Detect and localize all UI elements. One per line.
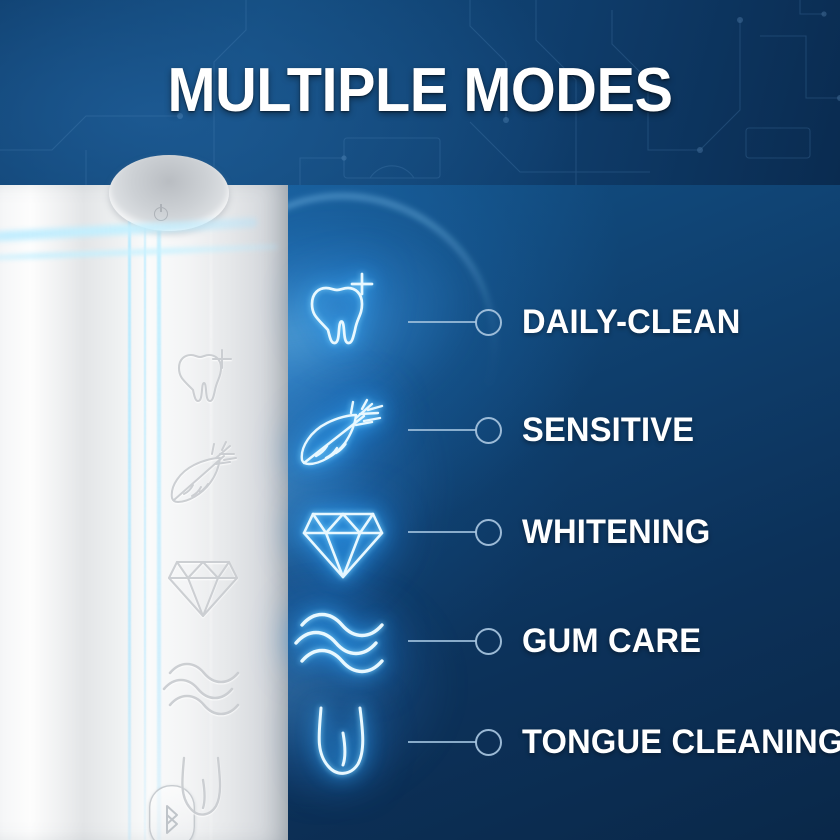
mode-icon-tongue-icon (305, 700, 383, 788)
toothbrush-handle (0, 185, 290, 840)
mode-icon-waves-icon (288, 605, 394, 677)
mode-label-sensitive: SENSITIVE (522, 411, 694, 450)
leader-line (408, 640, 476, 642)
leader-dot (475, 628, 502, 655)
mode-label-whitening: WHITENING (522, 513, 710, 552)
handle-emboss-feather-icon (160, 440, 248, 512)
handle-emboss-diamond-icon (163, 550, 243, 622)
callout-row[interactable]: DAILY-CLEAN (408, 302, 750, 342)
mode-icon-feather-icon (292, 398, 392, 478)
callout-row[interactable]: SENSITIVE (408, 410, 701, 450)
handle-light-streak (0, 244, 278, 265)
handle-emboss-tongue-icon (170, 750, 238, 826)
leader-line (408, 531, 476, 533)
leader-dot (475, 729, 502, 756)
mode-label-gum-care: GUM CARE (522, 622, 701, 661)
handle-emboss-tooth-plus-icon (165, 340, 241, 416)
handle-body (0, 185, 288, 840)
mode-icon-tooth-plus-icon (300, 268, 384, 354)
leader-dot (475, 309, 502, 336)
handle-highlight-stripe (128, 185, 131, 840)
mode-label-daily-clean: DAILY-CLEAN (522, 303, 741, 342)
handle-highlight-stripe (157, 185, 161, 840)
leader-line (408, 429, 476, 431)
mode-label-tongue-cleaning: TONGUE CLEANING (522, 723, 840, 762)
leader-line (408, 741, 476, 743)
callout-row[interactable]: WHITENING (408, 512, 718, 552)
callout-row[interactable]: GUM CARE (408, 621, 709, 661)
leader-dot (475, 417, 502, 444)
handle-highlight-stripe (144, 185, 146, 840)
leader-line (408, 321, 476, 323)
leader-dot (475, 519, 502, 546)
callout-row[interactable]: TONGUE CLEANING (408, 722, 840, 762)
infographic-stage: MULTIPLE MODES (0, 0, 840, 840)
mode-icon-diamond-icon (297, 500, 389, 582)
power-icon (154, 207, 168, 221)
header-banner: MULTIPLE MODES (0, 0, 840, 185)
handle-highlight-stripe (210, 185, 212, 840)
handle-emboss-waves-icon (158, 655, 250, 717)
